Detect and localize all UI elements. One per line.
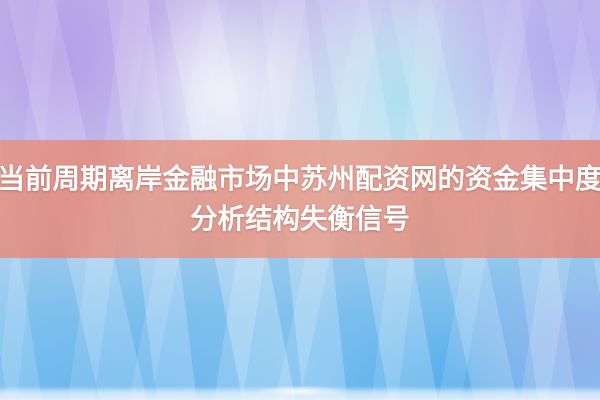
- footer-watermark: [260, 386, 340, 396]
- poster-canvas: 当前周期离岸金融市场中苏州配资网的资金集中度 分析结构失衡信号: [0, 0, 600, 400]
- page-title-line-1: 当前周期离岸金融市场中苏州配资网的资金集中度: [0, 159, 600, 199]
- poster-title: 当前周期离岸金融市场中苏州配资网的资金集中度 分析结构失衡信号: [0, 140, 600, 258]
- page-title-line-2: 分析结构失衡信号: [190, 199, 410, 239]
